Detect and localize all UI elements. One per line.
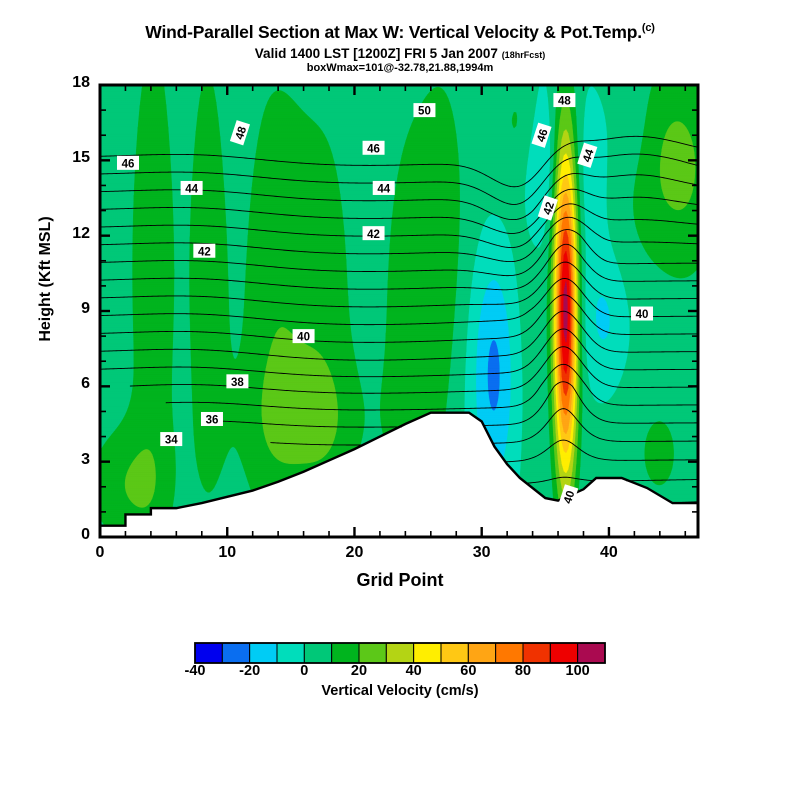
svg-text:42: 42: [367, 229, 380, 241]
svg-text:38: 38: [231, 377, 244, 389]
svg-text:42: 42: [198, 246, 211, 258]
colorbar-tick-label: 40: [389, 663, 439, 679]
x-tick-label: 10: [197, 544, 257, 562]
contour-label: 40: [631, 307, 653, 322]
colorbar-segment: [550, 643, 577, 663]
contour-label: 44: [181, 181, 203, 196]
x-tick-label: 20: [324, 544, 384, 562]
contour-label: 40: [293, 329, 315, 344]
colorbar-segment: [304, 643, 331, 663]
y-tick-label: 6: [48, 375, 90, 393]
colorbar-tick-label: -20: [225, 663, 275, 679]
y-tick-label: 3: [48, 451, 90, 469]
svg-text:46: 46: [122, 158, 135, 170]
colorbar-tick-label: 80: [498, 663, 548, 679]
svg-text:46: 46: [367, 143, 380, 155]
contour-label: 34: [160, 432, 182, 447]
colorbar-title: Vertical Velocity (cm/s): [0, 683, 800, 699]
svg-text:44: 44: [377, 184, 390, 196]
colorbar-segment: [468, 643, 495, 663]
svg-text:40: 40: [297, 332, 310, 344]
svg-text:40: 40: [636, 309, 649, 321]
colorbar-tick-label: 100: [553, 663, 603, 679]
svg-text:48: 48: [558, 96, 571, 108]
contour-label: 38: [226, 374, 248, 389]
contour-label: 44: [373, 181, 395, 196]
colorbar-tick-label: 60: [443, 663, 493, 679]
y-tick-label: 15: [48, 149, 90, 167]
figure-root: Wind-Parallel Section at Max W: Vertical…: [0, 0, 800, 800]
colorbar-segment: [222, 643, 249, 663]
contour-label: 46: [363, 141, 385, 156]
colorbar-segment: [414, 643, 441, 663]
svg-text:44: 44: [185, 184, 198, 196]
contour-label: 48: [553, 93, 575, 108]
colorbar-segment: [523, 643, 550, 663]
svg-text:36: 36: [206, 415, 219, 427]
colorbar-segment: [386, 643, 413, 663]
y-axis-title: Height (Kft MSL): [37, 189, 55, 369]
colorbar-segment: [578, 643, 605, 663]
colorbar-segment: [277, 643, 304, 663]
y-tick-label: 18: [48, 74, 90, 92]
colorbar-segment: [359, 643, 386, 663]
x-tick-label: 40: [579, 544, 639, 562]
svg-text:34: 34: [165, 435, 178, 447]
contour-label: 50: [413, 103, 435, 118]
x-tick-label: 0: [70, 544, 130, 562]
y-tick-label: 0: [48, 526, 90, 544]
colorbar-segment: [250, 643, 277, 663]
colorbar-segment: [441, 643, 468, 663]
colorbar-tick-label: 20: [334, 663, 384, 679]
x-axis-title: Grid Point: [0, 570, 800, 591]
colorbar-segment: [496, 643, 523, 663]
svg-text:50: 50: [418, 106, 431, 118]
contour-label: 42: [363, 226, 385, 241]
contour-label: 42: [193, 244, 215, 259]
x-tick-label: 30: [452, 544, 512, 562]
cross-section-plot: 504848464646444444424242404040383634: [0, 0, 800, 560]
contour-label: 46: [117, 156, 139, 171]
colorbar-segment: [195, 643, 222, 663]
colorbar-tick-label: -40: [170, 663, 220, 679]
contour-label: 36: [201, 412, 223, 427]
colorbar-tick-label: 0: [279, 663, 329, 679]
colorbar-segment: [332, 643, 359, 663]
